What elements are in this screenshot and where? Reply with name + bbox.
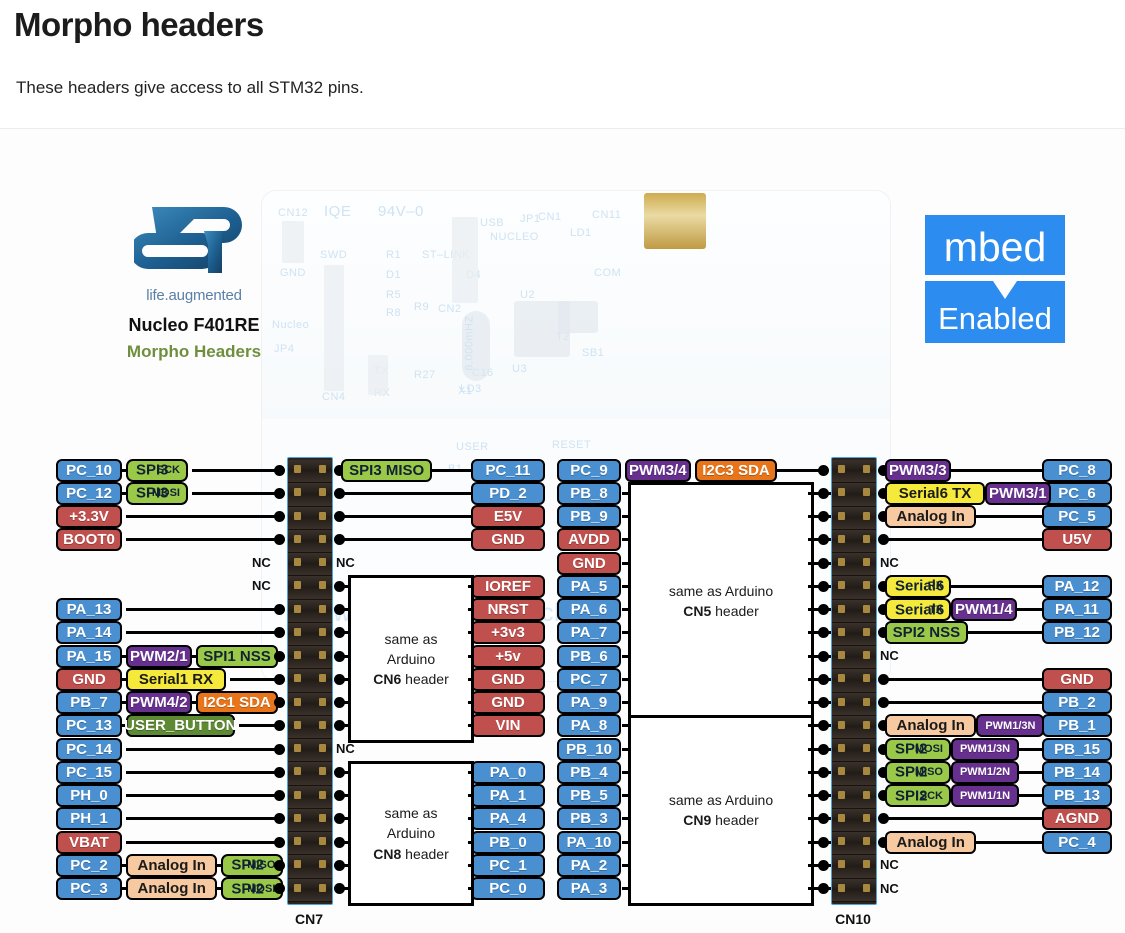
pad-swd-header [324, 265, 344, 391]
pin-dot [818, 627, 829, 638]
connector-pin-pair[interactable] [832, 600, 876, 623]
group-signal: MOSI [152, 487, 180, 499]
alt-function-pwm2-1[interactable]: PWM2/1 [126, 645, 192, 668]
pin-label-pb_12[interactable]: PB_12 [1042, 621, 1112, 644]
pin-dot [818, 651, 829, 662]
alt-function-analog-in[interactable]: Analog In [885, 714, 976, 737]
alt-function-pwm1-2n[interactable]: PWM1/2N [951, 761, 1019, 784]
pin-label-pc_5[interactable]: PC_5 [1042, 505, 1112, 528]
group-signal: MOSI [247, 883, 275, 895]
box-stub [622, 538, 630, 541]
connector-pin-pair[interactable] [832, 832, 876, 855]
pin-label-pc_4[interactable]: PC_4 [1042, 831, 1112, 854]
connector-pin-pair[interactable] [832, 693, 876, 716]
box-stub [622, 864, 630, 867]
connector-pin-pair[interactable] [832, 646, 876, 669]
pin-label-avdd[interactable]: AVDD [557, 528, 621, 551]
pin-wire [1017, 608, 1042, 611]
box-stub [468, 724, 474, 727]
connector-pin-pair[interactable] [832, 716, 876, 739]
same-as-arduino-text: same as ArduinoCN9 header [669, 790, 773, 831]
silk-r9: R9 [414, 301, 429, 313]
nc-label-cn10-right: NC [880, 648, 899, 663]
pin-wire [192, 701, 196, 704]
pin-dot [274, 720, 285, 731]
pin-wire [885, 817, 1042, 820]
silk-cn4: CN4 [322, 391, 346, 403]
group-signal: SCK [157, 464, 180, 476]
connector-pin-pair[interactable] [832, 739, 876, 762]
group-signal: MISO [915, 766, 943, 778]
connector-pin-pair[interactable] [288, 879, 332, 902]
box-stub [622, 678, 630, 681]
alt-function-serial6[interactable]: Serial6RX [885, 575, 951, 598]
alt-function-i2c3-sda[interactable]: I2C3 SDA [695, 459, 778, 482]
board-name: Nucleo F401RE [104, 315, 284, 336]
box-stub [468, 771, 474, 774]
connector-pin-pair[interactable] [832, 576, 876, 599]
box-stub [622, 841, 630, 844]
connector-cn10-label: CN10 [818, 911, 888, 927]
pin-label-pa_5[interactable]: PA_5 [557, 575, 621, 598]
pin-wire [976, 515, 1042, 518]
pin-label-pb_3[interactable]: PB_3 [557, 807, 621, 830]
connector-pin-pair[interactable] [288, 809, 332, 832]
pin-wire [341, 538, 471, 541]
pin-label-pb_13[interactable]: PB_13 [1042, 784, 1112, 807]
pin-dot [274, 860, 285, 871]
pin-label-pb_8[interactable]: PB_8 [557, 482, 621, 505]
pin-label-pa_15[interactable]: PA_15 [56, 645, 122, 668]
pin-wire [341, 492, 471, 495]
silk-ld1: LD1 [570, 227, 592, 239]
pin-dot [818, 883, 829, 894]
box-stub [468, 655, 474, 658]
connector-pin-pair[interactable] [288, 553, 332, 576]
connector-pin-pair[interactable] [288, 786, 332, 809]
same-as-arduino-text: same asArduinoCN6 header [373, 629, 449, 690]
pin-dot [818, 558, 829, 569]
box-stub [468, 841, 474, 844]
box-stub [468, 817, 474, 820]
pin-label-pa_10[interactable]: PA_10 [557, 831, 621, 854]
usb-connector-icon [644, 193, 706, 249]
pin-dot [818, 534, 829, 545]
pin-label-pa_11[interactable]: PA_11 [1042, 598, 1112, 621]
silk-8mhz: 8.000mHZ [464, 315, 476, 370]
silk-com: COM [594, 267, 621, 279]
pin-label-boot0[interactable]: BOOT0 [56, 528, 122, 551]
st-logo-icon [134, 197, 254, 283]
alt-function-i2c1-sda[interactable]: I2C1 SDA [196, 691, 279, 714]
morpho-headers-diagram: CN12 IQE 94V–0 GND SWD Nucleo JP4 CN4 TX… [0, 128, 1125, 933]
connector-cn7[interactable] [287, 457, 333, 905]
pin-dot [274, 883, 285, 894]
silk-u3: U3 [512, 363, 527, 375]
silk-usb: USB [480, 217, 504, 229]
pin-label-pa_4[interactable]: PA_4 [471, 807, 545, 830]
alt-function-spi2[interactable]: SPI2MOSI [885, 738, 951, 761]
pin-label-pc_0[interactable]: PC_0 [471, 877, 545, 900]
silk-cn1: CN1 [538, 211, 562, 223]
pin-dot [818, 837, 829, 848]
pin-label-pc_1[interactable]: PC_1 [471, 854, 545, 877]
silk-cn11: CN11 [592, 209, 621, 221]
pin-label-nrst[interactable]: NRST [471, 598, 545, 621]
box-stub [622, 492, 630, 495]
box-stub [468, 864, 474, 867]
connector-pin-pair[interactable] [288, 623, 332, 646]
pin-wire [1019, 748, 1042, 751]
pin-wire [432, 469, 471, 472]
box-stub [622, 887, 630, 890]
pin-label-pa_2[interactable]: PA_2 [557, 854, 621, 877]
pin-label-gnd[interactable]: GND [471, 691, 545, 714]
pin-label-gnd[interactable]: GND [56, 668, 122, 691]
pin-label-ph_0[interactable]: PH_0 [56, 784, 122, 807]
pin-label-pc_15[interactable]: PC_15 [56, 761, 122, 784]
pin-label-+3.3v[interactable]: +3.3V [56, 505, 122, 528]
nc-label-cn7-left: NC [252, 578, 271, 593]
box-stub [468, 631, 474, 634]
pin-dot [274, 488, 285, 499]
pin-dot [274, 697, 285, 708]
same-as-arduino-box-cn9: same as ArduinoCN9 header [628, 715, 814, 906]
connector-pin-pair[interactable] [288, 483, 332, 506]
connector-pin-pair[interactable] [288, 832, 332, 855]
pin-label-pc_14[interactable]: PC_14 [56, 738, 122, 761]
pin-label-ioref[interactable]: IOREF [471, 575, 545, 598]
pin-label-pa_7[interactable]: PA_7 [557, 621, 621, 644]
box-stub [622, 631, 630, 634]
connector-pin-pair[interactable] [288, 739, 332, 762]
connector-pin-pair[interactable] [288, 530, 332, 553]
pin-label-pa_14[interactable]: PA_14 [56, 621, 122, 644]
pin-dot [818, 604, 829, 615]
pin-label-e5v[interactable]: E5V [471, 505, 545, 528]
nc-label-cn10-right: NC [880, 857, 899, 872]
pin-label-pb_2[interactable]: PB_2 [1042, 691, 1112, 714]
pin-dot [274, 837, 285, 848]
pin-wire [126, 771, 281, 774]
connector-pin-pair[interactable] [288, 693, 332, 716]
alt-function-pwm3-4[interactable]: PWM3/4 [625, 459, 691, 482]
pin-label-gnd[interactable]: GND [471, 668, 545, 691]
alt-function-serial6-tx[interactable]: Serial6 TX [885, 482, 985, 505]
pin-wire [976, 841, 1042, 844]
pin-label-pc_6[interactable]: PC_6 [1042, 482, 1112, 505]
pin-label-pa_1[interactable]: PA_1 [471, 784, 545, 807]
alt-function-spi2-nss[interactable]: SPI2 NSS [885, 621, 968, 644]
pin-label-pc_11[interactable]: PC_11 [471, 459, 545, 482]
pin-label-+5v[interactable]: +5v [471, 645, 545, 668]
connector-pin-pair[interactable] [288, 669, 332, 692]
pin-dot [274, 604, 285, 615]
pin-label-vin[interactable]: VIN [471, 714, 545, 737]
connector-pin-pair[interactable] [288, 507, 332, 530]
pin-dot [274, 674, 285, 685]
mbed-word: mbed [944, 224, 1047, 270]
pin-wire [885, 538, 1042, 541]
pin-label-pc_8[interactable]: PC_8 [1042, 459, 1112, 482]
st-tagline: life.augmented [104, 287, 284, 304]
pin-label-pb_14[interactable]: PB_14 [1042, 761, 1112, 784]
pin-label-pa_6[interactable]: PA_6 [557, 598, 621, 621]
pin-label-pa_3[interactable]: PA_3 [557, 877, 621, 900]
pin-label-pa_13[interactable]: PA_13 [56, 598, 122, 621]
box-stub [622, 724, 630, 727]
connector-pin-pair[interactable] [288, 762, 332, 785]
nc-label-cn10-right: NC [880, 881, 899, 896]
pin-label-+3v3[interactable]: +3v3 [471, 621, 545, 644]
alt-function-spi3[interactable]: SPI3MOSI [126, 482, 188, 505]
nc-label-cn10-right: NC [880, 555, 899, 570]
pin-wire [126, 817, 281, 820]
enabled-word: Enabled [938, 301, 1052, 336]
pin-wire [126, 794, 281, 797]
same-as-arduino-box-cn5: same as ArduinoCN5 header [628, 482, 814, 719]
box-stub [622, 585, 630, 588]
silk-r27: R27 [414, 369, 436, 381]
box-stub [468, 608, 474, 611]
pin-wire [951, 585, 1042, 588]
pin-label-gnd[interactable]: GND [1042, 668, 1112, 691]
pin-dot [818, 744, 829, 755]
pin-wire [968, 631, 1042, 634]
connector-pin-pair[interactable] [288, 576, 332, 599]
alt-function-analog-in[interactable]: Analog In [126, 877, 217, 900]
silk-nucleo-2: NUCLEO [490, 231, 539, 243]
alt-function-analog-in[interactable]: Analog In [126, 854, 217, 877]
connector-pin-pair[interactable] [832, 553, 876, 576]
nc-label-cn7-left: NC [252, 555, 271, 570]
box-stub [622, 655, 630, 658]
pin-label-pa_12[interactable]: PA_12 [1042, 575, 1112, 598]
pin-wire [885, 678, 1042, 681]
box-stub [622, 608, 630, 611]
connector-pin-pair[interactable] [288, 855, 332, 878]
box-stub [468, 585, 474, 588]
pin-wire [192, 492, 281, 495]
pin-wire [126, 608, 281, 611]
group-signal: MISO [247, 859, 275, 871]
connector-pin-pair[interactable] [832, 623, 876, 646]
silk-iqe: IQE [324, 203, 351, 220]
alt-function-pwm4-2[interactable]: PWM4/2 [126, 691, 192, 714]
connector-pin-pair[interactable] [832, 809, 876, 832]
group-signal: SCK [920, 790, 943, 802]
pin-label-pc_3[interactable]: PC_3 [56, 877, 122, 900]
connector-pin-pair[interactable] [832, 669, 876, 692]
pin-dot [818, 488, 829, 499]
connector-pin-pair[interactable] [832, 483, 876, 506]
alt-function-serial1-rx[interactable]: Serial1 RX [126, 668, 226, 691]
pin-label-pb_0[interactable]: PB_0 [471, 831, 545, 854]
connector-pin-pair[interactable] [832, 786, 876, 809]
pin-label-pb_15[interactable]: PB_15 [1042, 738, 1112, 761]
connector-pin-pair[interactable] [288, 460, 332, 483]
alt-function-analog-in[interactable]: Analog In [885, 831, 976, 854]
pin-wire [1019, 794, 1042, 797]
pin-label-pc_10[interactable]: PC_10 [56, 459, 122, 482]
silk-user: USER [456, 441, 489, 453]
box-stub [622, 701, 630, 704]
pin-label-pb_1[interactable]: PB_1 [1042, 714, 1112, 737]
silk-swd: SWD [320, 249, 347, 261]
pin-dot [818, 790, 829, 801]
box-stub [622, 562, 630, 565]
box-stub [622, 515, 630, 518]
pin-label-pa_9[interactable]: PA_9 [557, 691, 621, 714]
same-as-arduino-box-cn8: same asArduinoCN8 header [348, 761, 474, 905]
pin-label-pc_7[interactable]: PC_7 [557, 668, 621, 691]
pin-label-ph_1[interactable]: PH_1 [56, 807, 122, 830]
alt-function-spi2[interactable]: SPI2SCK [885, 784, 951, 807]
pin-label-agnd[interactable]: AGND [1042, 807, 1112, 830]
silk-r1: R1 [386, 249, 401, 261]
alt-function-pwm3-1[interactable]: PWM3/1 [985, 482, 1051, 505]
pin-wire [126, 631, 281, 634]
alt-function-spi3-miso[interactable]: SPI3 MISO [341, 459, 432, 482]
silk-u2: U2 [520, 289, 535, 301]
box-stub [622, 817, 630, 820]
silk-94v0: 94V–0 [378, 203, 424, 220]
same-as-arduino-text: same as ArduinoCN5 header [669, 581, 773, 622]
pin-dot [274, 813, 285, 824]
alt-function-spi1-nss[interactable]: SPI1 NSS [196, 645, 279, 668]
pin-label-vbat[interactable]: VBAT [56, 831, 122, 854]
same-as-arduino-text: same asArduinoCN8 header [373, 803, 449, 864]
pin-dot [818, 720, 829, 731]
box-stub [468, 678, 474, 681]
pin-wire [126, 538, 281, 541]
st-logo-block: life.augmented Nucleo F401RE Morpho Head… [104, 197, 284, 362]
alt-function-pwm1-1n[interactable]: PWM1/1N [951, 784, 1019, 807]
silk-reset: RESET [552, 439, 591, 451]
pin-dot [818, 860, 829, 871]
alt-function-pwm1-3n[interactable]: PWM1/3N [951, 738, 1019, 761]
chip-u1 [558, 301, 598, 333]
silk-r5: R5 [386, 289, 401, 301]
pin-label-pc_2[interactable]: PC_2 [56, 854, 122, 877]
alt-function-user-button[interactable]: USER_BUTTON [126, 714, 235, 737]
pad-cn3 [368, 355, 388, 395]
pin-dot [274, 651, 285, 662]
pin-wire [192, 655, 196, 658]
nc-label-cn7-right: NC [336, 741, 355, 756]
pin-label-pb_5[interactable]: PB_5 [557, 784, 621, 807]
connector-pin-pair[interactable] [832, 762, 876, 785]
pin-label-pc_9[interactable]: PC_9 [557, 459, 621, 482]
pin-dot [274, 767, 285, 778]
silk-r8: R8 [386, 307, 401, 319]
box-stub [622, 794, 630, 797]
silk-cn2: CN2 [438, 303, 462, 315]
pin-label-pb_4[interactable]: PB_4 [557, 761, 621, 784]
page-title: Morpho headers [14, 6, 264, 44]
pad-stlink-jumper [452, 217, 478, 303]
pad-cn12 [282, 221, 304, 263]
pin-dot [274, 744, 285, 755]
connector-pin-pair[interactable] [832, 530, 876, 553]
pin-label-pa_8[interactable]: PA_8 [557, 714, 621, 737]
silk-jp1: JP1 [520, 213, 540, 225]
page-subtitle: These headers give access to all STM32 p… [16, 78, 364, 98]
group-signal: TX [929, 604, 943, 616]
pin-label-pb_10[interactable]: PB_10 [557, 738, 621, 761]
pin-wire [885, 701, 1042, 704]
pin-label-pc_12[interactable]: PC_12 [56, 482, 122, 505]
pin-label-u5v[interactable]: U5V [1042, 528, 1112, 551]
box-stub [622, 771, 630, 774]
pin-label-pa_0[interactable]: PA_0 [471, 761, 545, 784]
silk-sb1: SB1 [582, 347, 604, 359]
alt-function-pwm1-4[interactable]: PWM1/4 [951, 598, 1017, 621]
connector-pin-pair[interactable] [832, 879, 876, 902]
connector-cn10[interactable] [831, 457, 877, 905]
alt-function-spi2[interactable]: SPI2MISO [885, 761, 951, 784]
pin-label-pb_6[interactable]: PB_6 [557, 645, 621, 668]
box-stub [622, 748, 630, 751]
pin-label-pb_9[interactable]: PB_9 [557, 505, 621, 528]
connector-pin-pair[interactable] [288, 600, 332, 623]
connector-pin-pair[interactable] [832, 460, 876, 483]
mbed-enabled-logo: mbed Enabled [919, 211, 1071, 347]
silk-ld3: LD3 [460, 383, 482, 395]
box-stub [468, 887, 474, 890]
pin-wire [1019, 771, 1042, 774]
alt-function-serial6[interactable]: Serial6TX [885, 598, 951, 621]
pin-dot [818, 511, 829, 522]
pin-label-pc_13[interactable]: PC_13 [56, 714, 122, 737]
pin-label-gnd[interactable]: GND [557, 552, 621, 575]
pin-dot [274, 465, 285, 476]
connector-pin-pair[interactable] [288, 716, 332, 739]
pin-wire [192, 469, 281, 472]
pin-wire [126, 841, 281, 844]
pin-wire [126, 515, 281, 518]
connector-pin-pair[interactable] [288, 646, 332, 669]
pin-label-pb_7[interactable]: PB_7 [56, 691, 122, 714]
box-stub [468, 794, 474, 797]
alt-function-pwm1-3n[interactable]: PWM1/3N [976, 714, 1044, 737]
pin-dot [818, 674, 829, 685]
pin-dot [274, 511, 285, 522]
connector-pin-pair[interactable] [832, 507, 876, 530]
connector-cn7-label: CN7 [274, 911, 344, 927]
pin-dot [818, 581, 829, 592]
board-subtitle: Morpho Headers [104, 342, 284, 362]
same-as-arduino-box-cn6: same asArduinoCN6 header [348, 575, 474, 743]
group-signal: MOSI [915, 743, 943, 755]
pin-dot [274, 790, 285, 801]
alt-function-analog-in[interactable]: Analog In [885, 505, 976, 528]
pin-label-pd_2[interactable]: PD_2 [471, 482, 545, 505]
nc-label-cn7-right: NC [336, 555, 355, 570]
pin-dot [818, 465, 829, 476]
pin-dot [274, 534, 285, 545]
box-stub [468, 701, 474, 704]
pin-dot [274, 627, 285, 638]
alt-function-spi3[interactable]: SPI3SCK [126, 459, 188, 482]
pin-wire [951, 469, 1042, 472]
alt-function-pwm3-3[interactable]: PWM3/3 [885, 459, 951, 482]
pin-label-gnd[interactable]: GND [471, 528, 545, 551]
pin-wire [126, 748, 281, 751]
pin-dot [818, 767, 829, 778]
group-signal: RX [928, 580, 943, 592]
connector-pin-pair[interactable] [832, 855, 876, 878]
